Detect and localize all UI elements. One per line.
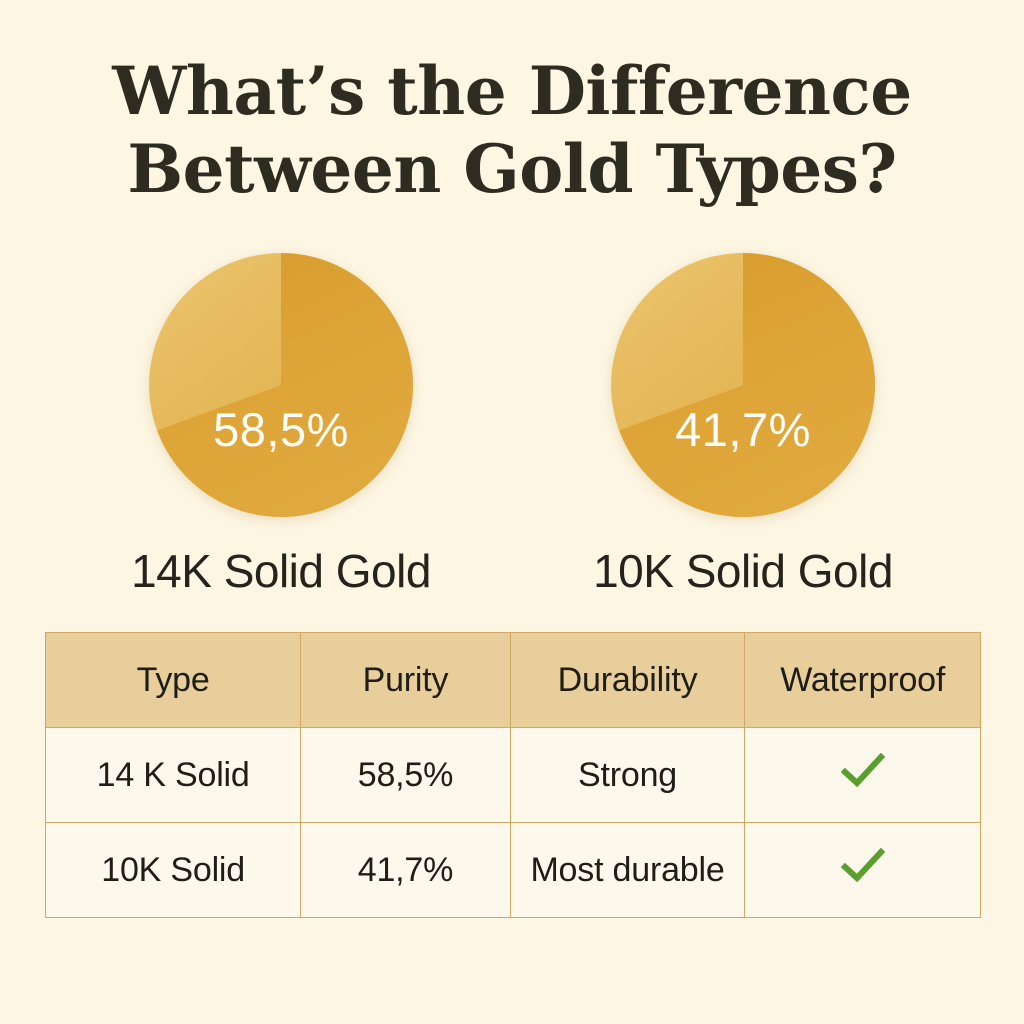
comparison-table: Type Purity Durability Waterproof 14 K S… — [45, 632, 981, 918]
column-header-type: Type — [46, 633, 301, 728]
cell-waterproof — [745, 728, 981, 823]
pie-chart-10k: 41,7% 10K Solid Gold — [593, 252, 893, 598]
pie-chart-group: 58,5% 14K Solid Gold — [0, 252, 1024, 598]
cell-purity: 58,5% — [301, 728, 510, 823]
pie-slices-10k — [610, 252, 876, 518]
table-body: 14 K Solid 58,5% Strong 10K Solid 41,7% — [46, 728, 981, 918]
title-line-2: Between Gold Types? — [0, 130, 1024, 208]
table-header: Type Purity Durability Waterproof — [46, 633, 981, 728]
cell-waterproof — [745, 823, 981, 918]
pie-caption-10k: 10K Solid Gold — [593, 544, 893, 598]
pie-chart-14k: 58,5% 14K Solid Gold — [131, 252, 431, 598]
title-line-1: What’s the Difference — [0, 52, 1024, 130]
check-icon — [841, 848, 885, 884]
cell-durability: Strong — [510, 728, 745, 823]
table-row: 10K Solid 41,7% Most durable — [46, 823, 981, 918]
cell-durability: Most durable — [510, 823, 745, 918]
page-title: What’s the Difference Between Gold Types… — [0, 52, 1024, 208]
gold-types-infographic: What’s the Difference Between Gold Types… — [0, 0, 1024, 1024]
cell-type: 14 K Solid — [46, 728, 301, 823]
check-icon — [841, 753, 885, 789]
column-header-waterproof: Waterproof — [745, 633, 981, 728]
cell-type: 10K Solid — [46, 823, 301, 918]
pie-chart-14k-graphic: 58,5% — [148, 252, 414, 518]
column-header-durability: Durability — [510, 633, 745, 728]
pie-chart-10k-graphic: 41,7% — [610, 252, 876, 518]
column-header-purity: Purity — [301, 633, 510, 728]
table-row: 14 K Solid 58,5% Strong — [46, 728, 981, 823]
pie-slices-14k — [148, 252, 414, 518]
cell-purity: 41,7% — [301, 823, 510, 918]
table-header-row: Type Purity Durability Waterproof — [46, 633, 981, 728]
pie-caption-14k: 14K Solid Gold — [131, 544, 431, 598]
comparison-table-container: Type Purity Durability Waterproof 14 K S… — [45, 632, 981, 918]
